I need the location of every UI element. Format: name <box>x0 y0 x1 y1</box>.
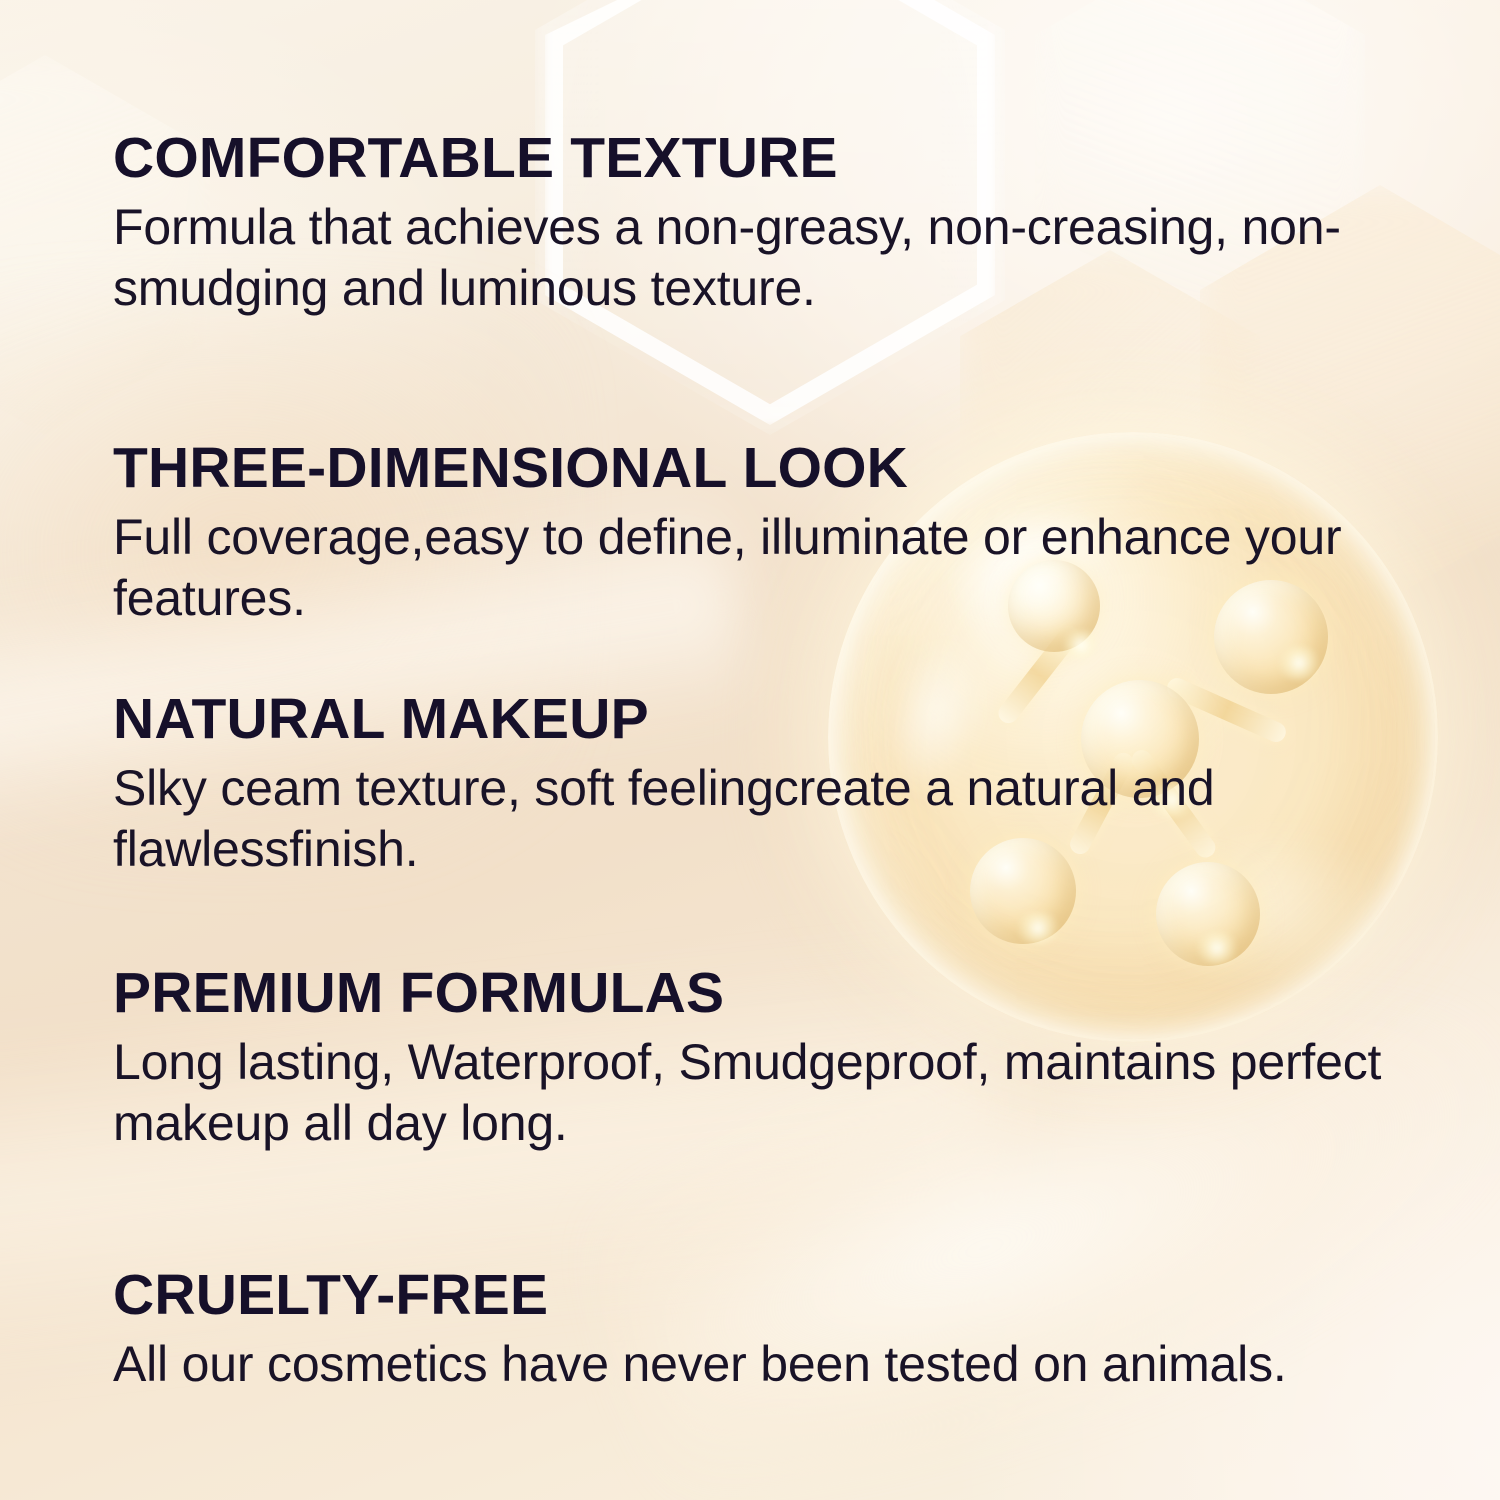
feature-title: NATURAL MAKEUP <box>113 688 1433 752</box>
feature-item-cruelty-free: CRUELTY-FREE All our cosmetics have neve… <box>113 1264 1433 1395</box>
feature-title: PREMIUM FORMULAS <box>113 962 1433 1026</box>
feature-description: Slky ceam texture, soft feelingcreate a … <box>113 758 1433 880</box>
feature-description: Formula that achieves a non-greasy, non-… <box>113 197 1433 319</box>
feature-item-three-dimensional-look: THREE-DIMENSIONAL LOOK Full coverage,eas… <box>113 437 1433 629</box>
feature-description: Long lasting, Waterproof, Smudgeproof, m… <box>113 1032 1433 1154</box>
feature-title: THREE-DIMENSIONAL LOOK <box>113 437 1433 501</box>
feature-item-premium-formulas: PREMIUM FORMULAS Long lasting, Waterproo… <box>113 962 1433 1154</box>
feature-description: Full coverage,easy to define, illuminate… <box>113 507 1433 629</box>
feature-title: CRUELTY-FREE <box>113 1264 1433 1328</box>
product-feature-panel: COMFORTABLE TEXTURE Formula that achieve… <box>0 0 1500 1500</box>
feature-title: COMFORTABLE TEXTURE <box>113 127 1433 191</box>
feature-item-comfortable-texture: COMFORTABLE TEXTURE Formula that achieve… <box>113 127 1433 319</box>
feature-item-natural-makeup: NATURAL MAKEUP Slky ceam texture, soft f… <box>113 688 1433 880</box>
feature-description: All our cosmetics have never been tested… <box>113 1334 1433 1395</box>
feature-list: COMFORTABLE TEXTURE Formula that achieve… <box>0 0 1500 1500</box>
